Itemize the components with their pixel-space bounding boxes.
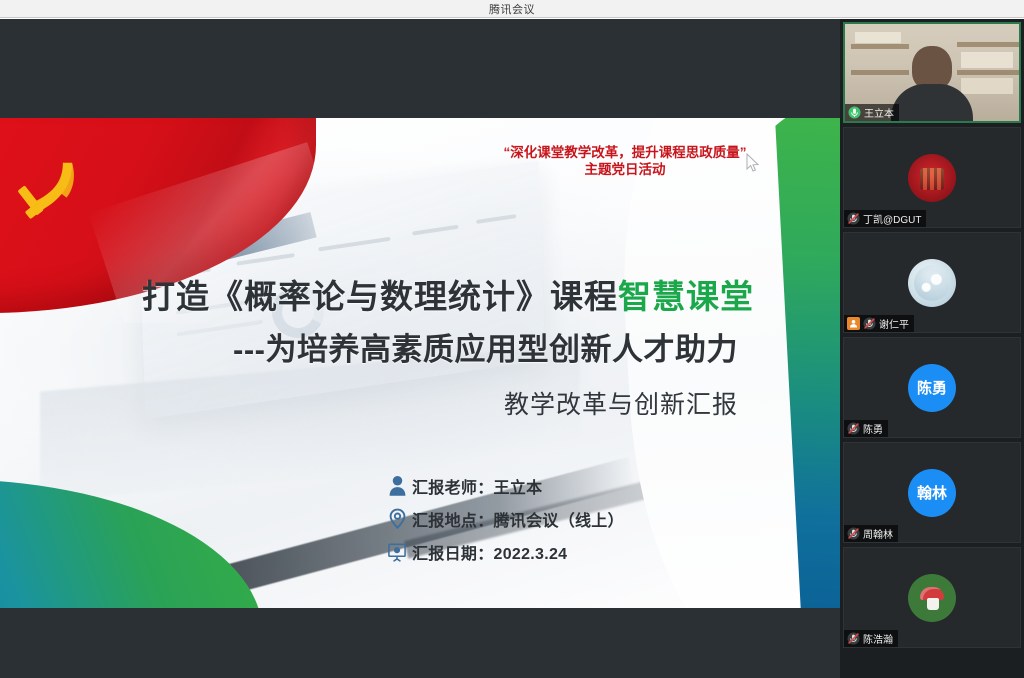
participant-avatar-1 [908,154,956,202]
info-text-date: 汇报日期：2022.3.24 [412,540,567,564]
participant-avatar-initials-3: 陈勇 [917,377,947,398]
participant-avatar-5 [908,574,956,622]
participant-avatar-2 [908,259,956,307]
info-text-location: 汇报地点：腾讯会议（线上） [412,507,624,531]
slide-title-subtitle: ---为培养高素质应用型创新人才助力 [0,324,800,369]
slide-title-accent: 智慧课堂 [618,278,754,315]
info-row-presenter: 汇报老师：王立本 [382,469,624,502]
window-title-bar: 腾讯会议 [0,0,1024,18]
participant-name-3: 陈勇 [863,421,883,436]
participant-name-4: 周翰林 [863,526,893,541]
participant-name-bar-0: 王立本 [845,104,899,121]
mic-muted-icon [863,317,876,330]
participant-avatar-4: 翰林 [908,469,956,517]
participant-tile-2[interactable]: 谢仁平 [843,232,1021,333]
slide-title-line-1: 打造《概率论与数理统计》课程智慧课堂 [0,270,800,318]
participant-name-bar-5: 陈浩瀚 [844,630,898,647]
participant-avatar-initials-4: 翰林 [917,482,947,503]
mic-muted-icon [847,212,860,225]
participant-name-bar-2: 谢仁平 [844,315,914,332]
person-icon [382,473,412,499]
slide-title-main: 打造《概率论与数理统计》课程 [142,278,618,315]
participant-name-0: 王立本 [864,105,894,120]
participant-tile-4[interactable]: 翰林 周翰林 [843,442,1021,543]
participant-name-5: 陈浩瀚 [863,631,893,646]
host-badge-icon [847,317,860,330]
mushroom-icon [919,585,945,611]
tencent-meeting-window: 腾讯会议 [0,0,1024,678]
hammer-sickle-emblem-icon [4,148,96,240]
location-pin-icon [382,506,412,532]
mouse-cursor [746,153,760,173]
participant-tile-0[interactable]: 王立本 [843,22,1021,123]
window-title: 腾讯会议 [489,1,535,17]
participant-name-bar-1: 丁凯@DGUT [844,210,926,227]
participant-tile-5[interactable]: 陈浩瀚 [843,547,1021,648]
slide-header-line-2: 主题党日活动 [470,161,780,178]
mic-muted-icon [847,422,860,435]
info-row-location: 汇报地点：腾讯会议（线上） [382,502,624,535]
presentation-board-icon [382,539,412,565]
participant-name-1: 丁凯@DGUT [863,211,921,226]
slide-header-block: “深化课堂教学改革，提升课程思政质量” 主题党日活动 [470,144,780,179]
participant-name-bar-3: 陈勇 [844,420,888,437]
mic-muted-icon [847,632,860,645]
presentation-slide: “深化课堂教学改革，提升课程思政质量” 主题党日活动 打造《概率论与数理统计》课… [0,118,840,608]
participant-name-2: 谢仁平 [879,316,909,331]
slide-title-report-label: 教学改革与创新汇报 [0,385,800,421]
mic-muted-icon [847,527,860,540]
shared-screen-stage[interactable]: “深化课堂教学改革，提升课程思政质量” 主题党日活动 打造《概率论与数理统计》课… [0,19,840,678]
slide-header-line-1: “深化课堂教学改革，提升课程思政质量” [470,144,780,161]
slide-title-block: 打造《概率论与数理统计》课程智慧课堂 ---为培养高素质应用型创新人才助力 教学… [0,270,800,421]
participant-avatar-3: 陈勇 [908,364,956,412]
participant-filmstrip[interactable]: 王立本 丁凯@DGUT [840,19,1024,678]
participant-tile-3[interactable]: 陈勇 陈勇 [843,337,1021,438]
participant-name-bar-4: 周翰林 [844,525,898,542]
mic-unmuted-icon [848,106,861,119]
participant-tile-1[interactable]: 丁凯@DGUT [843,127,1021,228]
info-text-presenter: 汇报老师：王立本 [412,474,542,498]
slide-info-block: 汇报老师：王立本 汇报地点：腾讯会议（线上） [382,469,624,568]
info-row-date: 汇报日期：2022.3.24 [382,535,624,568]
